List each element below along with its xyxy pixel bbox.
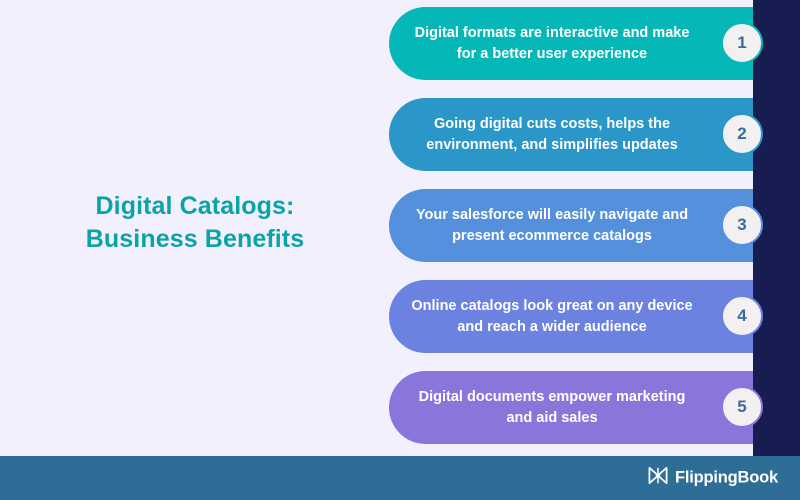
benefit-text-3: Your salesforce will easily navigate and… xyxy=(389,205,707,246)
brand-logo-text: FlippingBook xyxy=(675,469,778,488)
benefit-badge-5: 5 xyxy=(721,386,763,428)
page-title-line-2: Business Benefits xyxy=(40,223,350,256)
benefit-text-5: Digital documents empower marketing and … xyxy=(389,387,707,428)
benefit-badge-1: 1 xyxy=(721,22,763,64)
benefit-bar-4[interactable]: Online catalogs look great on any device… xyxy=(389,280,753,353)
page-title: Digital Catalogs: Business Benefits xyxy=(40,190,350,256)
benefit-badge-3: 3 xyxy=(721,204,763,246)
benefit-number-3: 3 xyxy=(737,215,746,235)
benefit-bar-3[interactable]: Your salesforce will easily navigate and… xyxy=(389,189,753,262)
benefit-bar-5[interactable]: Digital documents empower marketing and … xyxy=(389,371,753,444)
benefit-bar-2[interactable]: Going digital cuts costs, helps the envi… xyxy=(389,98,753,171)
benefit-bar-1[interactable]: Digital formats are interactive and make… xyxy=(389,7,753,80)
benefit-number-2: 2 xyxy=(737,124,746,144)
benefit-badge-4: 4 xyxy=(721,295,763,337)
benefit-number-1: 1 xyxy=(737,33,746,53)
benefit-number-5: 5 xyxy=(737,397,746,417)
benefit-badge-2: 2 xyxy=(721,113,763,155)
benefit-text-2: Going digital cuts costs, helps the envi… xyxy=(389,114,707,155)
benefit-text-4: Online catalogs look great on any device… xyxy=(389,296,707,337)
footer-bar: FlippingBook xyxy=(0,456,800,500)
benefit-number-4: 4 xyxy=(737,306,746,326)
infographic-slide: Digital Catalogs: Business Benefits Digi… xyxy=(0,0,800,500)
benefit-text-1: Digital formats are interactive and make… xyxy=(389,23,707,64)
flippingbook-butterfly-logo-icon xyxy=(648,467,668,490)
page-title-line-1: Digital Catalogs: xyxy=(40,190,350,223)
brand-logo: FlippingBook xyxy=(648,467,778,490)
